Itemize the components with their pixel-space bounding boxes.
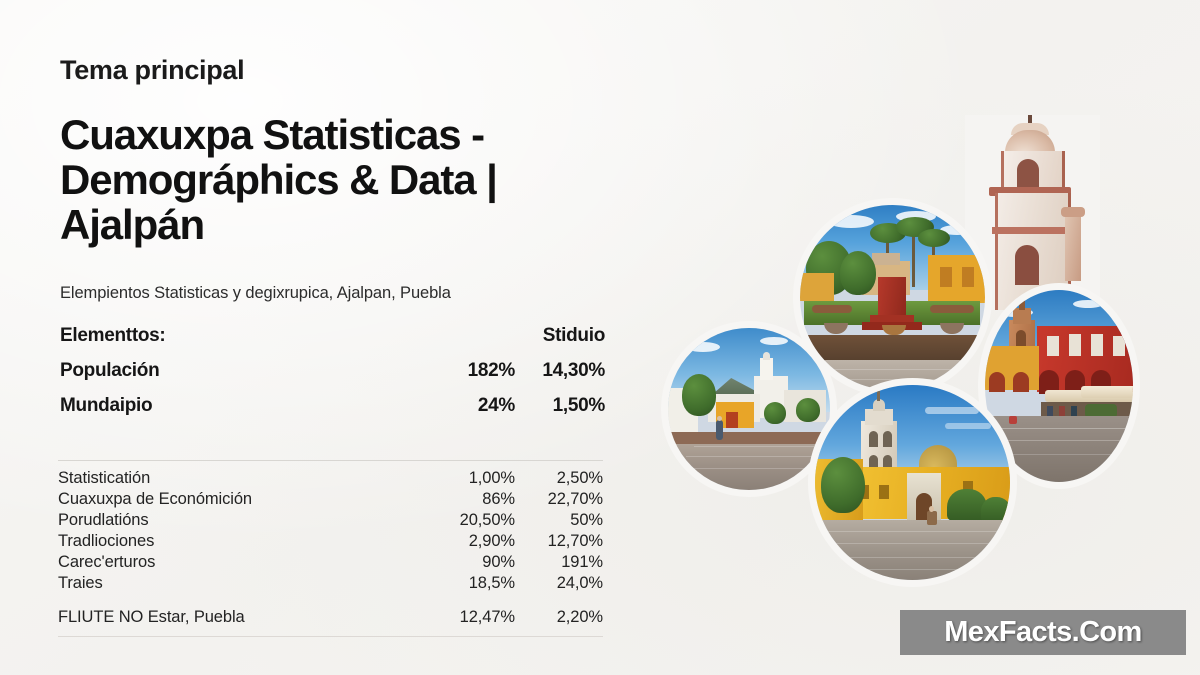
row-label: Tradliociones [58, 531, 400, 552]
table-row: Statisticatión 1,00% 2,50% [58, 468, 603, 489]
row-value-2: 1,50% [515, 395, 605, 417]
table-row: Tradliociones 2,90% 12,70% [58, 531, 603, 552]
total-value-2: 2,20% [515, 607, 603, 628]
row-value-1: 1,00% [400, 468, 515, 489]
yellow-convent [815, 385, 1010, 580]
table-total-row: FLIUTE NO Estar, Puebla 12,47% 2,20% [58, 598, 603, 636]
row-value-1: 24% [400, 395, 515, 417]
row-value-2: 191% [515, 552, 603, 573]
row-label: Cuaxuxpa de Económición [58, 489, 400, 510]
eyebrow-label: Tema principal [60, 56, 620, 86]
row-label: Populación [60, 360, 400, 382]
table-row: Porudlatións 20,50% 50% [58, 510, 603, 531]
row-value-2: 50% [515, 510, 603, 531]
total-label: FLIUTE NO Estar, Puebla [58, 607, 400, 628]
row-label: Mundaipio [60, 395, 400, 417]
watermark-badge: MexFacts.Com [900, 610, 1186, 655]
total-value-1: 12,47% [400, 607, 515, 628]
row-value-2: 12,70% [515, 531, 603, 552]
row-value-2: 14,30% [515, 360, 605, 382]
photo-collage [655, 100, 1200, 600]
header-label: Elementtos: [60, 325, 400, 347]
row-value-1: 2,90% [400, 531, 515, 552]
subtitle: Elempientos Statisticas y degixrupica, A… [60, 284, 620, 303]
row-label: Porudlatións [58, 510, 400, 531]
table-header-row: Elementtos: Stiduio [60, 325, 605, 347]
watermark-text: MexFacts.Com [944, 616, 1141, 649]
page-title: Cuaxuxpa Statisticas - Demográphics & Da… [60, 112, 620, 248]
divider-bottom [58, 636, 603, 637]
row-label: Carec'erturos [58, 552, 400, 573]
table-row: Carec'erturos 90% 191% [58, 552, 603, 573]
row-label: Traies [58, 573, 400, 594]
primary-stats-table: Elementtos: Stiduio Populación 182% 14,3… [60, 325, 605, 430]
row-value-1: 86% [400, 489, 515, 510]
row-value-1: 20,50% [400, 510, 515, 531]
church-tower-cutout [965, 115, 1100, 310]
row-label: Statisticatión [58, 468, 400, 489]
town-plaza-palms [800, 205, 985, 390]
table-row: Mundaipio 24% 1,50% [60, 395, 605, 417]
header-col2: Stiduio [515, 325, 605, 347]
row-value-2: 24,0% [515, 573, 603, 594]
row-value-1: 18,5% [400, 573, 515, 594]
row-value-1: 90% [400, 552, 515, 573]
secondary-rows-group: Statisticatión 1,00% 2,50% Cuaxuxpa de E… [58, 461, 603, 598]
row-value-2: 22,70% [515, 489, 603, 510]
table-row: Populación 182% 14,30% [60, 360, 605, 382]
secondary-stats-table: Statisticatión 1,00% 2,50% Cuaxuxpa de E… [58, 460, 603, 637]
row-value-1: 182% [400, 360, 515, 382]
table-row: Traies 18,5% 24,0% [58, 573, 603, 594]
text-column: Tema principal Cuaxuxpa Statisticas - De… [60, 56, 620, 303]
table-row: Cuaxuxpa de Económición 86% 22,70% [58, 489, 603, 510]
row-value-2: 2,50% [515, 468, 603, 489]
